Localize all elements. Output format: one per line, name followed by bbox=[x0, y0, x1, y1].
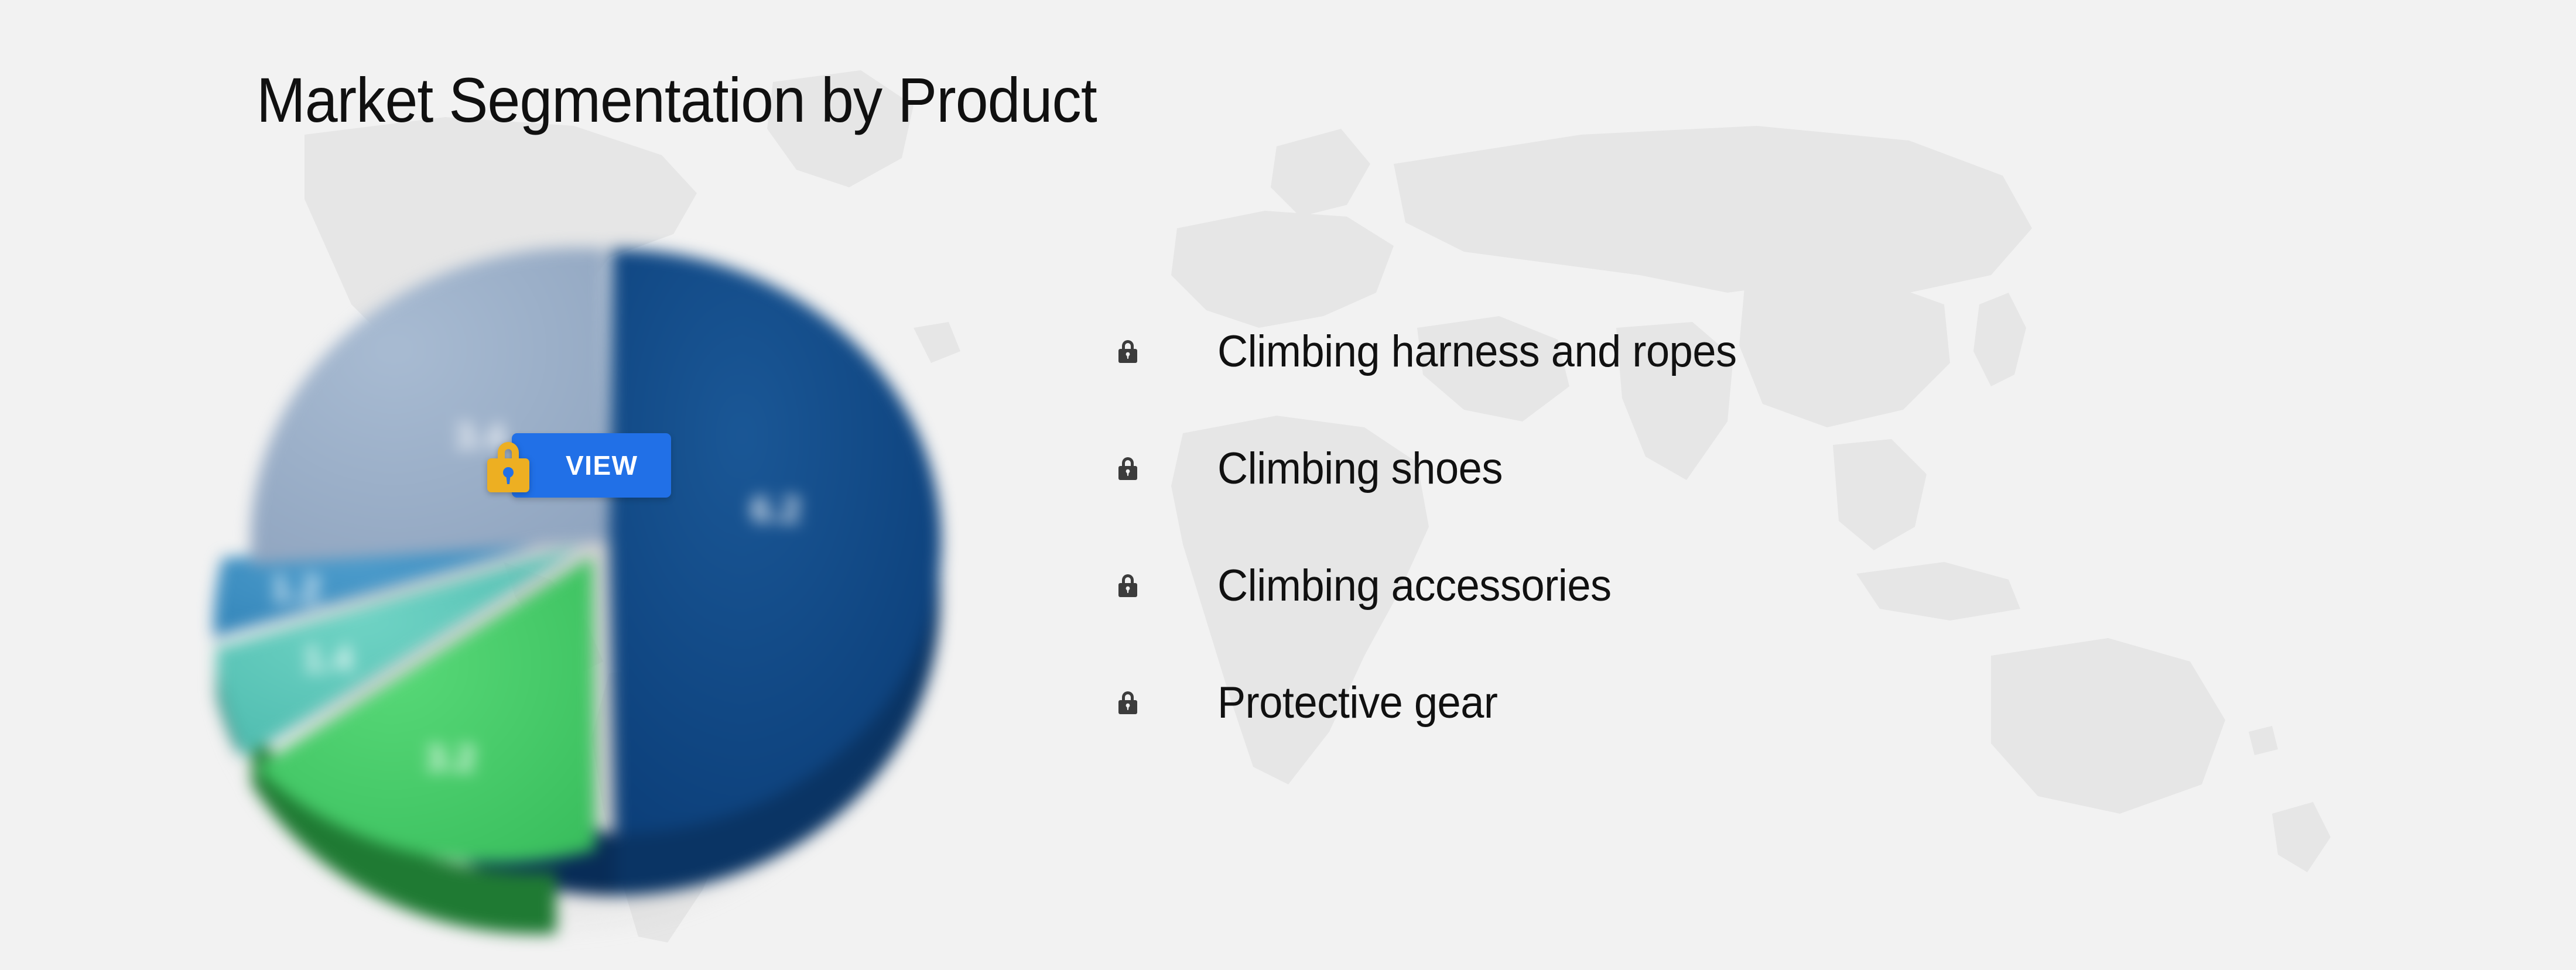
view-cta-group[interactable]: VIEW bbox=[480, 433, 671, 498]
slice-label-3: 1.2 bbox=[271, 568, 321, 609]
legend-item-label: Climbing accessories bbox=[1217, 560, 1612, 611]
slice-label-2: 1.4 bbox=[303, 639, 354, 679]
legend-item-label: Climbing shoes bbox=[1217, 443, 1503, 494]
legend-item-climbing-accessories[interactable]: Climbing accessories bbox=[1116, 527, 1764, 644]
legend-item-climbing-shoes[interactable]: Climbing shoes bbox=[1116, 410, 1764, 527]
legend-list: Climbing harness and ropes Climbing shoe… bbox=[1116, 293, 1764, 761]
legend-item-climbing-harness-and-ropes[interactable]: Climbing harness and ropes bbox=[1116, 293, 1764, 410]
legend-item-label: Climbing harness and ropes bbox=[1217, 326, 1737, 377]
page-title: Market Segmentation by Product bbox=[256, 63, 1097, 136]
legend-item-protective-gear[interactable]: Protective gear bbox=[1116, 644, 1764, 761]
slice-label-1: 3.2 bbox=[426, 738, 476, 779]
legend-item-label: Protective gear bbox=[1217, 677, 1497, 728]
pie-chart: 6.2 3.2 1.4 1.2 3.4 bbox=[146, 176, 1060, 954]
slice-label-0: 6.2 bbox=[751, 489, 801, 530]
lock-icon bbox=[1116, 690, 1140, 715]
padlock-icon bbox=[480, 435, 536, 496]
lock-icon bbox=[1116, 573, 1140, 598]
lock-icon bbox=[1116, 455, 1140, 481]
pie-chart-blurred-graphic: 6.2 3.2 1.4 1.2 3.4 bbox=[146, 176, 1060, 954]
lock-icon bbox=[1116, 338, 1140, 364]
